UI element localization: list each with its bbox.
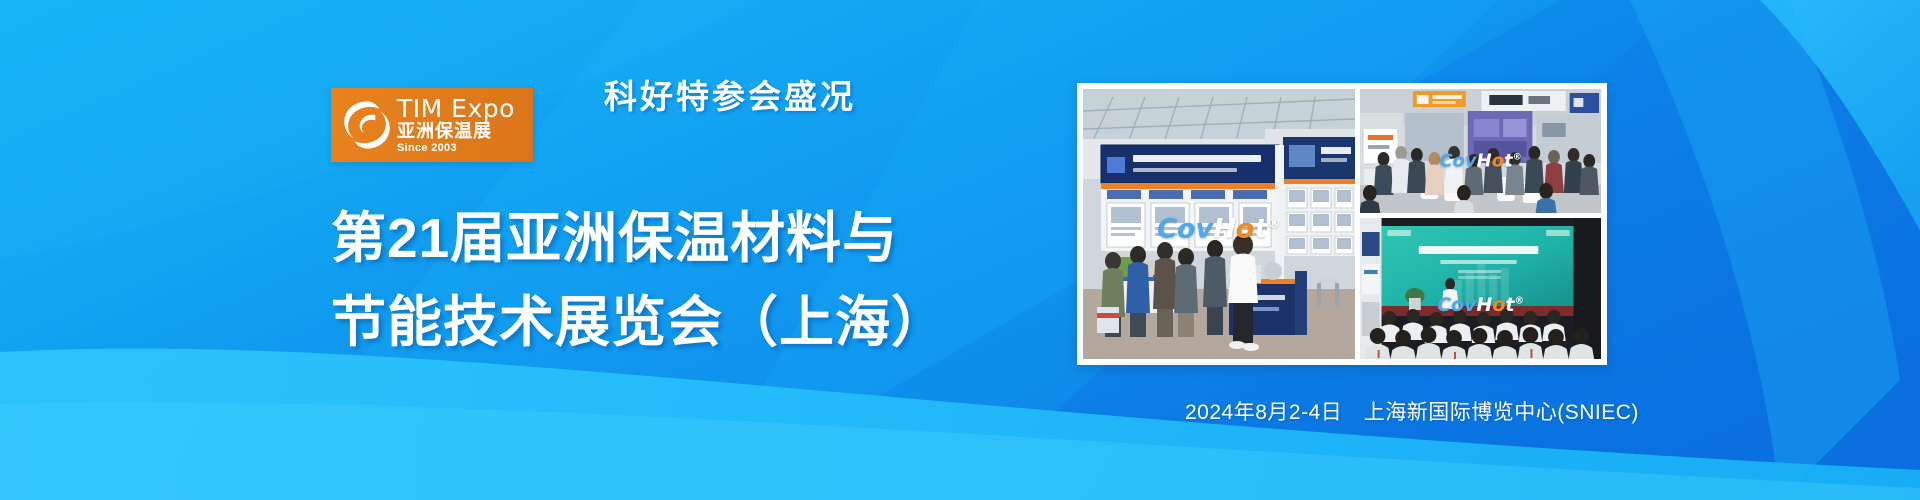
- yin-yang-swirl-icon: [339, 97, 395, 153]
- forum-photo-graphic: [1360, 218, 1601, 359]
- title-line-1: 第21届亚洲保温材料与: [331, 196, 947, 280]
- hall-photo: CovHot®: [1360, 89, 1601, 213]
- page-title: 第21届亚洲保温材料与 节能技术展览会（上海）: [331, 196, 947, 364]
- logo-since-label: Since 2003: [397, 142, 515, 154]
- event-date-venue: 2024年8月2-4日 上海新国际博览中心(SNIEC): [1185, 396, 1639, 426]
- booth-photo: CovHot®: [1083, 89, 1355, 359]
- hall-photo-graphic: [1360, 89, 1601, 213]
- logo-name-cn: 亚洲保温展: [397, 121, 515, 142]
- photo-column: CovHot®: [1360, 89, 1601, 359]
- title-line-2: 节能技术展览会（上海）: [331, 280, 947, 364]
- photo-collage: CovHot®: [1077, 83, 1607, 365]
- expo-banner: TIM Expo 亚洲保温展 Since 2003 科好特参会盛况 第21届亚洲…: [0, 0, 1920, 500]
- kicker-text: 科好特参会盛况: [604, 77, 856, 117]
- booth-photo-graphic: [1083, 89, 1355, 359]
- forum-photo: CovHot®: [1360, 218, 1601, 359]
- tim-expo-logo[interactable]: TIM Expo 亚洲保温展 Since 2003: [331, 88, 533, 162]
- logo-name-en: TIM Expo: [397, 96, 515, 122]
